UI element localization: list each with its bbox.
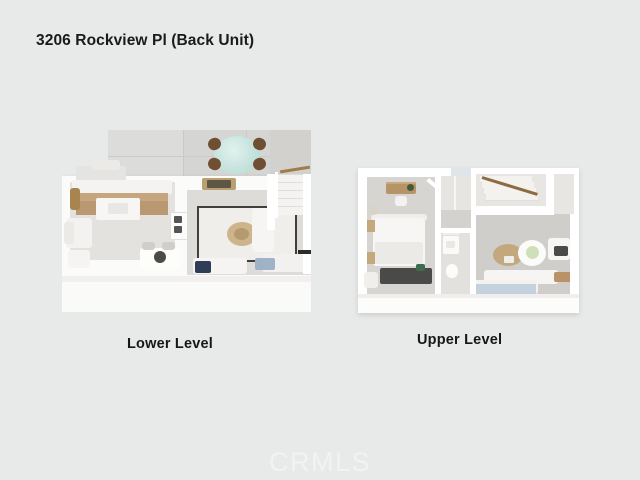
table-centerpiece xyxy=(154,251,166,263)
stair-half-wall xyxy=(546,174,554,215)
desk-chair xyxy=(395,196,407,206)
appliance-door xyxy=(174,216,182,223)
floor-plan-lower-level xyxy=(62,130,311,312)
floor-plan-label-lower: Lower Level xyxy=(127,336,213,352)
desk-plant xyxy=(407,184,414,191)
accent-chair xyxy=(68,250,90,268)
interior-wall xyxy=(441,228,475,233)
interior-wall xyxy=(435,172,441,296)
floor-plan-label-upper: Upper Level xyxy=(417,332,502,348)
listing-image: 3206 Rockview Pl (Back Unit) xyxy=(0,0,640,480)
armchair-seat xyxy=(554,246,568,256)
bathroom-sink xyxy=(446,241,455,248)
breakfast-chair xyxy=(162,242,175,250)
floor-lamp xyxy=(369,206,378,215)
bar-stools xyxy=(70,188,80,210)
dresser-plant xyxy=(416,264,425,271)
bedroom-bench xyxy=(364,272,378,288)
stair-step xyxy=(486,194,538,201)
plan-apron-shade xyxy=(358,294,579,298)
plan-apron-shade xyxy=(62,276,311,282)
floor-plan-upper-level xyxy=(358,168,579,313)
appliance-door xyxy=(174,226,182,233)
breakfast-chair xyxy=(142,242,155,250)
shower-enclosure xyxy=(441,176,471,210)
exterior-wall xyxy=(303,174,311,274)
range-hood xyxy=(92,160,120,170)
exterior-wall xyxy=(570,214,579,296)
accent-pillow xyxy=(195,261,211,273)
table-book xyxy=(504,256,514,263)
nightstand xyxy=(367,220,375,232)
floor-trim xyxy=(298,250,311,254)
interior-wall xyxy=(470,228,476,296)
stair-half-wall xyxy=(476,206,554,215)
window xyxy=(451,168,471,176)
table-bowl xyxy=(526,246,539,259)
entry-sofa-arm xyxy=(64,222,74,244)
television xyxy=(207,180,231,188)
stair-wall xyxy=(267,174,275,230)
bed-throw xyxy=(375,242,423,264)
kitchen-counter xyxy=(72,180,172,194)
deck-seam xyxy=(183,130,184,177)
coffee-table-inner xyxy=(234,228,249,240)
crmls-watermark: CRMLS xyxy=(0,447,640,478)
shower-glass xyxy=(454,176,456,210)
page-title: 3206 Rockview Pl (Back Unit) xyxy=(36,32,254,50)
toilet xyxy=(446,264,458,278)
accent-pillow xyxy=(255,258,275,270)
area-rug xyxy=(476,284,536,294)
kitchen-sink xyxy=(108,203,128,214)
stair-railing xyxy=(275,172,278,218)
nightstand xyxy=(367,252,375,264)
